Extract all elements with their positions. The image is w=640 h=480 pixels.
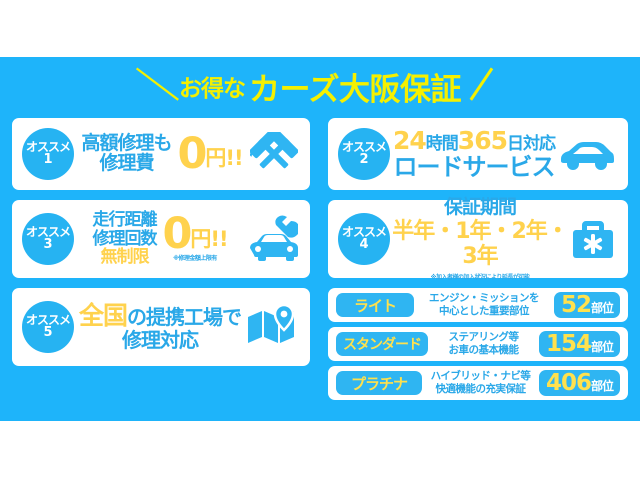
feature-1-amount-unit: 円!! [205,142,242,172]
feature-card-5: オススメ 5 全国の提携工場で 修理対応 [12,288,310,366]
plan-desc-line-2: お車の基本機能 [428,344,539,357]
plan-count-number: 52 [561,292,591,318]
feature-card-1: オススメ 1 高額修理も 修理費 0 円!! [12,118,310,190]
plan-count-unit: 部位 [591,338,613,355]
feature-card-3: オススメ 3 走行距離 修理回数 無制限 0 円!! ※修理金額上限 [12,200,310,278]
feature-1-line-1: 高額修理も [81,134,171,154]
feature-3-amount-unit: 円!! [190,223,227,253]
feature-2-line-2: ロードサービス [393,154,555,180]
feature-4-note: ※加入者様の加入状況により延長が可能 [390,272,570,281]
plan-desc-line-1: ハイブリッド・ナビ等 [422,370,539,383]
badge-number: 5 [43,326,52,340]
feature-3-line-3: 無制限 [92,248,156,267]
badge-number: 4 [359,238,368,252]
plan-row-light[interactable]: ライト エンジン・ミッションを 中心とした重要部位 52 部位 [328,288,628,322]
recommend-badge-2: オススメ 2 [338,128,390,180]
plan-desc-line-2: 快適機能の充実保証 [422,383,539,396]
plan-count-number: 154 [546,331,591,357]
advertisement-canvas: ＼ お得な カーズ大阪保証 ／ オススメ 1 高額修理も 修理費 0 [0,0,640,480]
feature-5-highlight: 全国 [79,301,127,330]
toolbox-icon [570,217,616,261]
recommend-badge-3: オススメ 3 [22,213,74,265]
badge-number: 2 [359,153,368,167]
plan-name-pill: スタンダード [336,332,428,356]
crossed-hammers-icon [250,132,298,176]
recommend-badge-4: オススメ 4 [338,213,390,265]
recommend-badge-1: オススメ 1 [22,128,74,180]
feature-3-note: ※修理金額上限有 [173,253,217,262]
plan-row-platinum[interactable]: プラチナ ハイブリッド・ナビ等 快適機能の充実保証 406 部位 [328,366,628,400]
plan-count-number: 406 [546,370,591,396]
feature-3-line-2: 修理回数 [92,230,156,249]
feature-3-amount: 0 [162,216,190,253]
feature-4-line-1: 保証期間 [390,197,570,219]
plan-description: ハイブリッド・ナビ等 快適機能の充実保証 [422,370,539,396]
plan-desc-line-1: ステアリング等 [428,331,539,344]
plan-description: エンジン・ミッションを 中心とした重要部位 [414,292,554,318]
car-wrench-icon [246,214,298,264]
feature-card-2: オススメ 2 24時間365日対応 ロードサービス [328,118,628,190]
plan-count-badge: 406 部位 [539,370,620,396]
plan-count-unit: 部位 [591,377,613,394]
feature-1-amount: 0 [177,136,205,173]
plan-count-badge: 154 部位 [539,331,620,357]
plan-count-unit: 部位 [591,299,613,316]
plan-name-pill: プラチナ [336,371,422,395]
map-pin-icon [246,305,298,349]
feature-card-4: オススメ 4 保証期間 半年・1年・2年・3年 ※加入者様の加入状況により延長が… [328,200,628,278]
car-icon [558,137,616,171]
feature-1-line-2: 修理費 [81,154,171,174]
plan-desc-line-1: エンジン・ミッションを [414,292,554,305]
badge-number: 3 [43,238,52,252]
plan-description: ステアリング等 お車の基本機能 [428,331,539,357]
page-title: カーズ大阪保証 [249,64,461,109]
plan-count-badge: 52 部位 [554,292,620,318]
plan-row-standard[interactable]: スタンダード ステアリング等 お車の基本機能 154 部位 [328,327,628,361]
feature-2-days: 365 [458,126,507,155]
plan-desc-line-2: 中心とした重要部位 [414,305,554,318]
header-small-text: お得な [179,69,245,103]
feature-5-line-2: 修理対応 [79,329,241,352]
feature-5-line-1-rest: の提携工場で [127,305,241,329]
feature-2-hours-unit: 時間 [426,134,458,154]
feature-2-hours: 24 [393,126,426,155]
slash-left-decoration: ＼ [135,69,180,103]
slash-right-decoration: ／ [459,69,504,103]
header-banner: ＼ お得な カーズ大阪保証 ／ [0,60,640,112]
recommend-badge-5: オススメ 5 [22,301,74,353]
feature-2-days-unit: 日対応 [507,134,555,154]
badge-number: 1 [43,153,52,167]
feature-4-line-2: 半年・1年・2年・3年 [390,219,570,270]
feature-3-line-1: 走行距離 [92,211,156,230]
plan-name-pill: ライト [336,293,414,317]
